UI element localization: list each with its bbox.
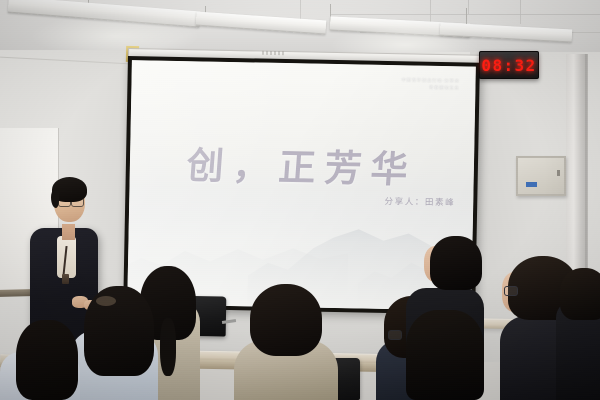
panel-latch[interactable] [557, 170, 560, 176]
slide-title: 创，正芳华 [128, 134, 476, 195]
presenter-neck [62, 224, 75, 240]
presenter-hair-side [51, 190, 59, 208]
audience-6-hair [430, 236, 482, 290]
audience-9-hair [560, 268, 600, 320]
presenter-shirt [57, 236, 76, 278]
ceiling-grid-line [330, 14, 600, 15]
ceiling-grid-line [468, 0, 469, 14]
slide-header-text: 中国青年创业行动·分享会 青春建功立业 [401, 77, 459, 92]
audience-4-hair [250, 284, 322, 356]
lanyard-badge [62, 274, 69, 284]
roller-brand-mark [262, 51, 284, 55]
audience-1-hair [16, 320, 78, 400]
audience-2-hairtie [96, 296, 116, 306]
wall-control-panel[interactable] [516, 156, 566, 196]
clock-time-display: 08:32 [481, 56, 536, 75]
ceiling-grid-line [520, 0, 521, 24]
slide-header-line-2: 青春建功立业 [401, 84, 459, 92]
slide-presenter-line: 分享人：田素峰 [384, 195, 455, 208]
audience-2-hair [84, 286, 154, 376]
panel-sticker [526, 182, 537, 187]
glasses-icon [388, 330, 402, 340]
audience-7-hair [406, 310, 484, 400]
classroom-photo: 中国青年创业行动·分享会 青春建功立业 创，正芳华 分享人：田素峰 08:32 … [0, 0, 600, 400]
glasses-icon [504, 286, 518, 296]
wall-digital-clock: 08:32 [479, 51, 539, 79]
audience-3-ponytail [160, 318, 176, 376]
